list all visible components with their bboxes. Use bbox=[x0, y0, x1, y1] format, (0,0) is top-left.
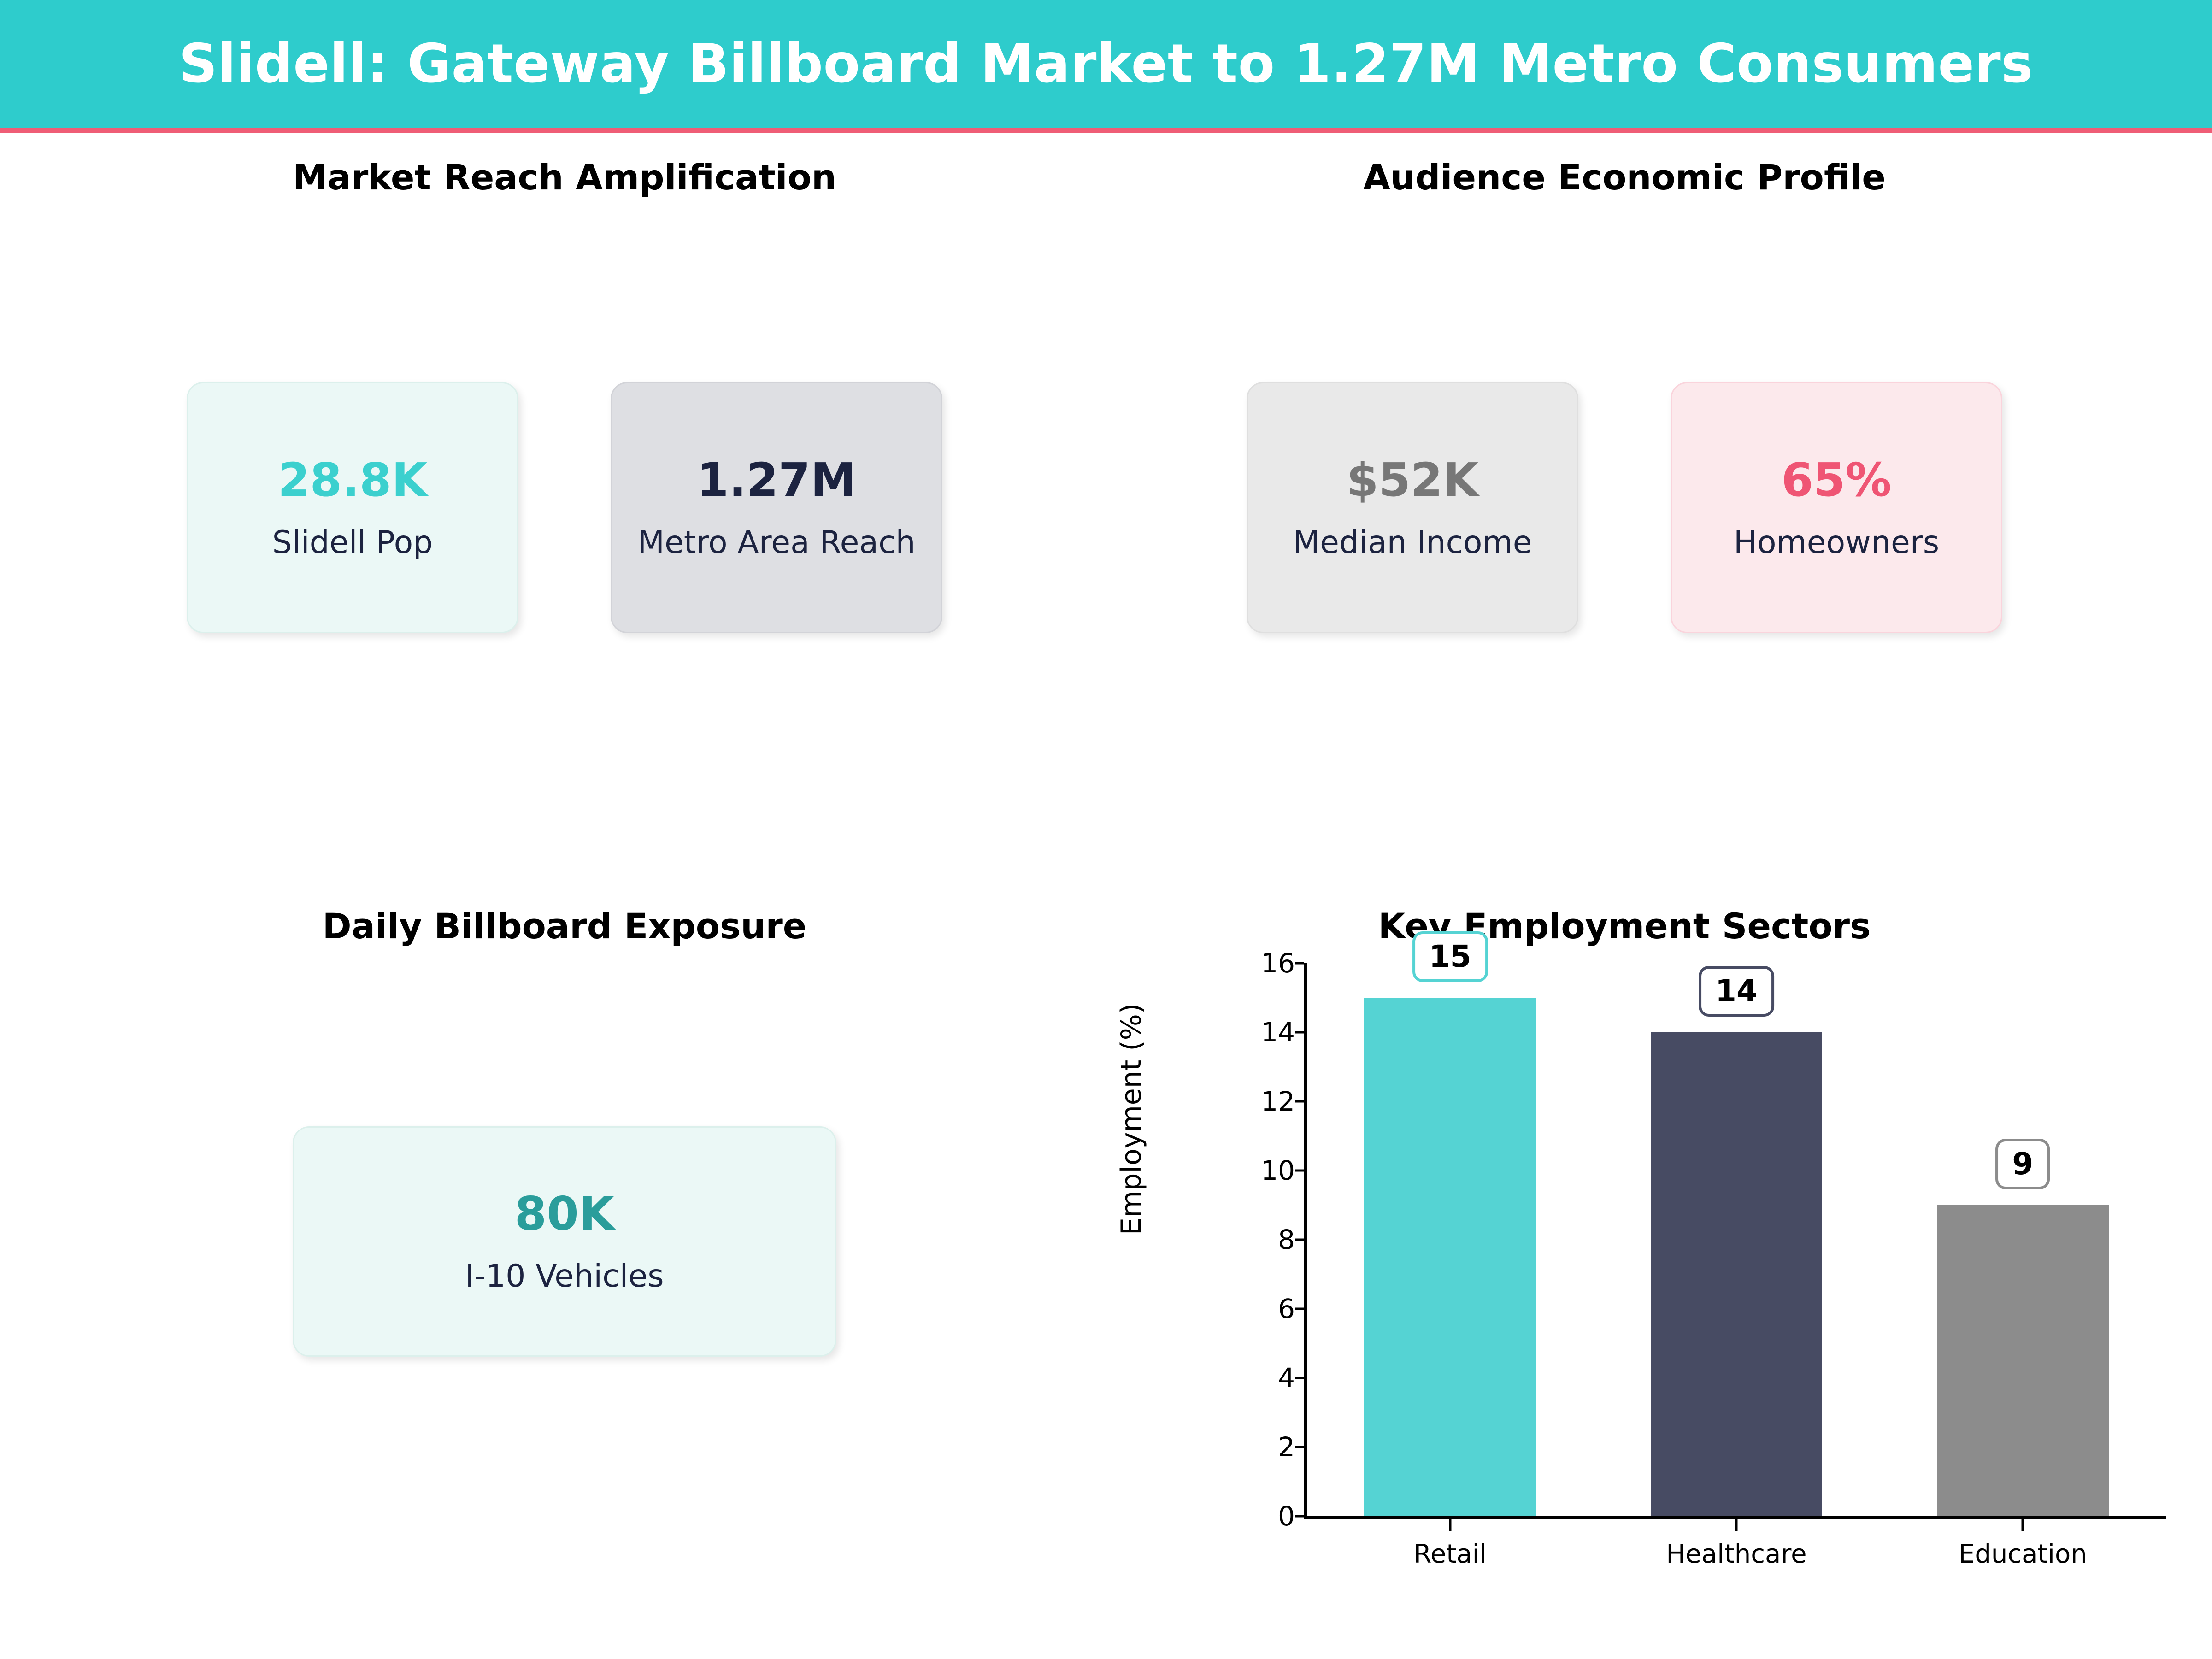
chart-y-tick-label: 6 bbox=[1249, 1293, 1295, 1324]
kpi-card-row-market: 28.8K Slidell Pop 1.27M Metro Area Reach bbox=[69, 382, 1060, 633]
kpi-label-median-income: Median Income bbox=[1293, 527, 1532, 559]
header-accent-rule bbox=[0, 128, 2212, 133]
panel-market-reach: Market Reach Amplification 28.8K Slidell… bbox=[69, 157, 1060, 876]
kpi-card-i10-vehicles: 80K I-10 Vehicles bbox=[293, 1126, 836, 1357]
kpi-card-row-exposure: 80K I-10 Vehicles bbox=[69, 1126, 1060, 1357]
kpi-label-slidell-pop: Slidell Pop bbox=[272, 527, 433, 559]
chart-y-tick-mark bbox=[1295, 1377, 1304, 1379]
chart-y-tick-mark bbox=[1295, 1515, 1304, 1518]
kpi-card-row-audience: $52K Median Income 65% Homeowners bbox=[1106, 382, 2143, 633]
panel-title-daily-billboard-exposure: Daily Billboard Exposure bbox=[69, 906, 1060, 947]
chart-x-tick-label: Healthcare bbox=[1666, 1539, 1806, 1569]
chart-bar-group[interactable]: 14 bbox=[1651, 963, 1823, 1516]
chart-bar-value-label: 15 bbox=[1412, 931, 1488, 982]
kpi-card-slidell-pop: 28.8K Slidell Pop bbox=[187, 382, 518, 633]
kpi-label-i10-vehicles: I-10 Vehicles bbox=[465, 1261, 664, 1292]
panel-daily-billboard-exposure: Daily Billboard Exposure 80K I-10 Vehicl… bbox=[69, 906, 1060, 1624]
kpi-card-metro-area-reach: 1.27M Metro Area Reach bbox=[611, 382, 942, 633]
chart-y-tick-label: 4 bbox=[1249, 1362, 1295, 1394]
chart-y-tick-label: 12 bbox=[1249, 1086, 1295, 1117]
panel-audience-economic-profile: Audience Economic Profile $52K Median In… bbox=[1106, 157, 2143, 876]
kpi-label-metro-area-reach: Metro Area Reach bbox=[637, 527, 915, 559]
chart-y-tick-label: 16 bbox=[1249, 947, 1295, 979]
chart-x-axis-line bbox=[1304, 1516, 2166, 1519]
chart-x-tick-label: Retail bbox=[1414, 1539, 1487, 1569]
chart-y-tick-mark bbox=[1295, 1308, 1304, 1310]
chart-y-tick-label: 0 bbox=[1249, 1500, 1295, 1532]
chart-y-tick-label: 10 bbox=[1249, 1155, 1295, 1186]
kpi-label-homeowners: Homeowners bbox=[1734, 527, 1939, 559]
kpi-value-homeowners: 65% bbox=[1781, 457, 1891, 503]
chart-y-tick-mark bbox=[1295, 1446, 1304, 1448]
kpi-card-homeowners: 65% Homeowners bbox=[1671, 382, 2002, 633]
chart-bar-value-label: 9 bbox=[1995, 1139, 2050, 1189]
chart-bar[interactable] bbox=[1651, 1032, 1823, 1516]
page-header: Slidell: Gateway Billboard Market to 1.2… bbox=[0, 0, 2212, 128]
employment-bar-chart: Employment (%) 0246810121416 15149 Retai… bbox=[1106, 963, 2143, 1622]
panel-title-key-employment-sectors: Key Employment Sectors bbox=[1106, 906, 2143, 947]
chart-x-tick-mark bbox=[2022, 1519, 2024, 1531]
panel-title-audience-economic-profile: Audience Economic Profile bbox=[1106, 157, 2143, 198]
kpi-value-slidell-pop: 28.8K bbox=[278, 457, 427, 503]
chart-x-tick-mark bbox=[1449, 1519, 1451, 1531]
chart-y-tick-label: 2 bbox=[1249, 1431, 1295, 1463]
panel-title-market-reach: Market Reach Amplification bbox=[69, 157, 1060, 198]
chart-bar-group[interactable]: 15 bbox=[1364, 963, 1536, 1516]
page-title: Slidell: Gateway Billboard Market to 1.2… bbox=[179, 33, 2033, 95]
chart-y-tick-mark bbox=[1295, 1031, 1304, 1034]
chart-y-tick-label: 14 bbox=[1249, 1017, 1295, 1048]
kpi-card-median-income: $52K Median Income bbox=[1247, 382, 1578, 633]
chart-y-axis-label: Employment (%) bbox=[1115, 1003, 1147, 1235]
chart-y-tick-mark bbox=[1295, 962, 1304, 965]
chart-x-tick-mark bbox=[1735, 1519, 1738, 1531]
chart-y-tick-mark bbox=[1295, 1100, 1304, 1103]
chart-bar[interactable] bbox=[1364, 998, 1536, 1516]
chart-y-tick-mark bbox=[1295, 1239, 1304, 1241]
chart-bar-group[interactable]: 9 bbox=[1937, 963, 2109, 1516]
chart-bar[interactable] bbox=[1937, 1205, 2109, 1516]
chart-y-tick-label: 8 bbox=[1249, 1224, 1295, 1255]
kpi-value-metro-area-reach: 1.27M bbox=[697, 457, 856, 503]
chart-x-tick-label: Education bbox=[1959, 1539, 2087, 1569]
kpi-value-i10-vehicles: 80K bbox=[515, 1191, 615, 1237]
kpi-value-median-income: $52K bbox=[1347, 457, 1478, 503]
chart-y-tick-mark bbox=[1295, 1170, 1304, 1172]
chart-plot-area: 0246810121416 15149 RetailHealthcareEduc… bbox=[1198, 963, 2074, 1516]
chart-bar-value-label: 14 bbox=[1699, 966, 1774, 1017]
chart-bars: 15149 bbox=[1307, 963, 2166, 1516]
